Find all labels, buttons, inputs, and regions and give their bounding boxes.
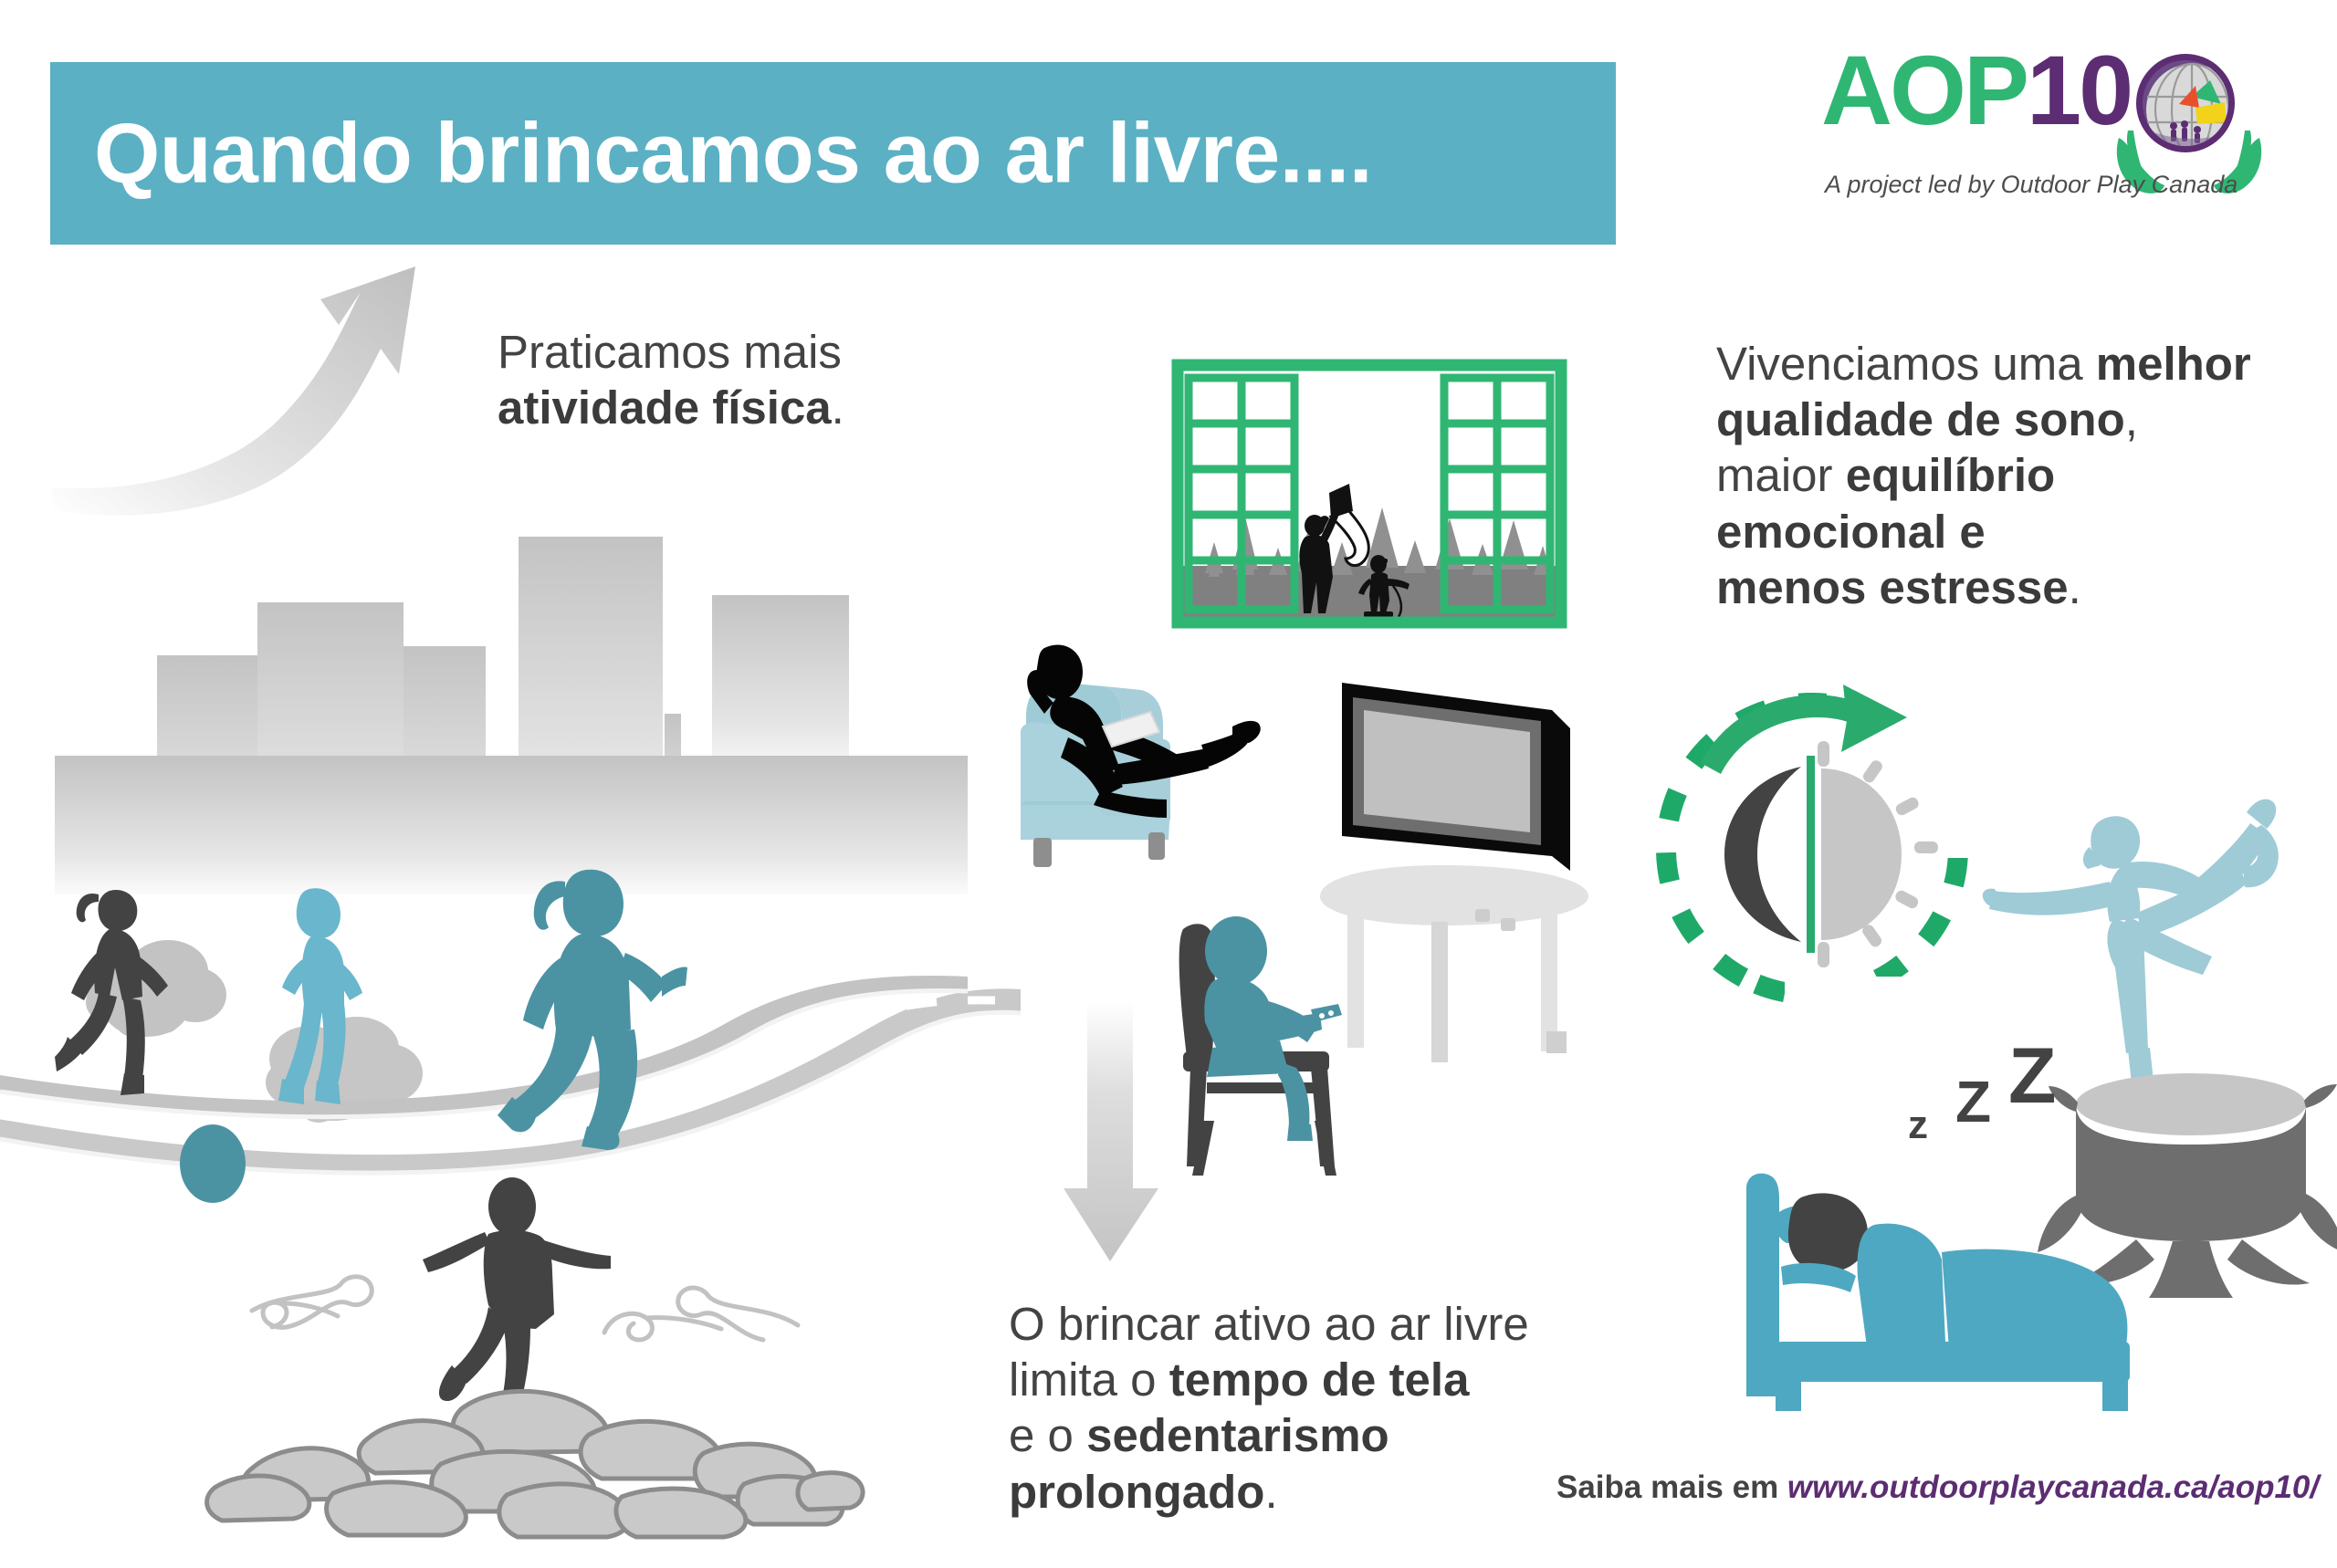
zzz-icon-large: Z <box>2008 1031 2057 1122</box>
website-url[interactable]: www.outdoorplaycanada.ca/aop10/ <box>1787 1469 2319 1505</box>
running-woman-icon <box>479 858 689 1159</box>
zzz-icon-medium: Z <box>1955 1068 1991 1135</box>
zzz-icon-small: z <box>1908 1103 1928 1148</box>
logo-aop-text: AOP <box>1821 35 2027 145</box>
day-night-cycle-icon <box>1648 675 2004 1004</box>
physical-activity-text: Praticamos mais atividade física. <box>498 324 972 435</box>
logo-wordmark: AOP10 <box>1821 41 2131 140</box>
screen-text-period: . <box>1264 1466 1277 1518</box>
television-icon <box>1340 675 1577 885</box>
infographic-canvas: Quando brincamos ao ar livre.... AOP10 <box>0 0 2337 1568</box>
sleep-text-comma: , <box>2125 393 2138 445</box>
sleep-text-bold3: equilíbrio <box>1846 449 2056 501</box>
rocks-icon <box>196 1351 863 1552</box>
seated-phone-user-icon <box>1150 913 1360 1196</box>
sleep-text-line1a: Vivenciamos uma <box>1716 338 2096 390</box>
sleep-text-bold2: qualidade de sono <box>1716 393 2125 445</box>
downward-arrow-icon <box>1064 995 1164 1269</box>
running-child-icon <box>260 876 406 1132</box>
sleep-text-bold5: menos estresse <box>1716 561 2069 613</box>
ball-icon <box>180 1124 246 1203</box>
running-girl-icon <box>55 876 215 1132</box>
upward-arrow-icon <box>50 265 525 529</box>
cityscape-icon <box>55 511 968 894</box>
screen-text-bold1: tempo de tela <box>1169 1354 1470 1406</box>
sleep-text-bold4: emocional e <box>1716 506 1986 558</box>
screen-time-text: O brincar ativo ao ar livre limita o tem… <box>1009 1296 1593 1520</box>
physical-text-bold: atividade física <box>498 382 832 434</box>
screen-text-line3a: e o <box>1009 1409 1086 1461</box>
sleep-text-period: . <box>2069 561 2081 613</box>
sleep-text-bold1: melhor <box>2096 338 2251 390</box>
learn-more-label: Saiba mais em <box>1556 1469 1787 1505</box>
aop10-logo: AOP10 <box>1821 41 2314 201</box>
open-window-icon <box>1168 347 1570 639</box>
sleep-text-line3a: maior <box>1716 449 1846 501</box>
divider-line-icon <box>1807 756 1815 953</box>
title-banner: Quando brincamos ao ar livre.... <box>50 62 1616 245</box>
wind-swirl-icon <box>246 1269 438 1360</box>
learn-more-footer: Saiba mais em www.outdoorplaycanada.ca/a… <box>1556 1469 2319 1506</box>
sleeping-person-icon <box>1739 1168 2168 1415</box>
screen-text-bold2: sedentarismo <box>1086 1409 1389 1461</box>
physical-text-period: . <box>832 382 844 434</box>
page-title: Quando brincamos ao ar livre.... <box>94 105 1372 203</box>
logo-tagline: A project led by Outdoor Play Canada <box>1825 171 2237 199</box>
physical-text-line1: Praticamos mais <box>498 326 842 378</box>
sleep-wellbeing-text: Vivenciamos uma melhor qualidade de sono… <box>1716 336 2337 615</box>
screen-text-line1: O brincar ativo ao ar livre <box>1009 1298 1529 1350</box>
screen-text-bold3: prolongado <box>1009 1466 1264 1518</box>
screen-text-line2a: limita o <box>1009 1354 1169 1406</box>
